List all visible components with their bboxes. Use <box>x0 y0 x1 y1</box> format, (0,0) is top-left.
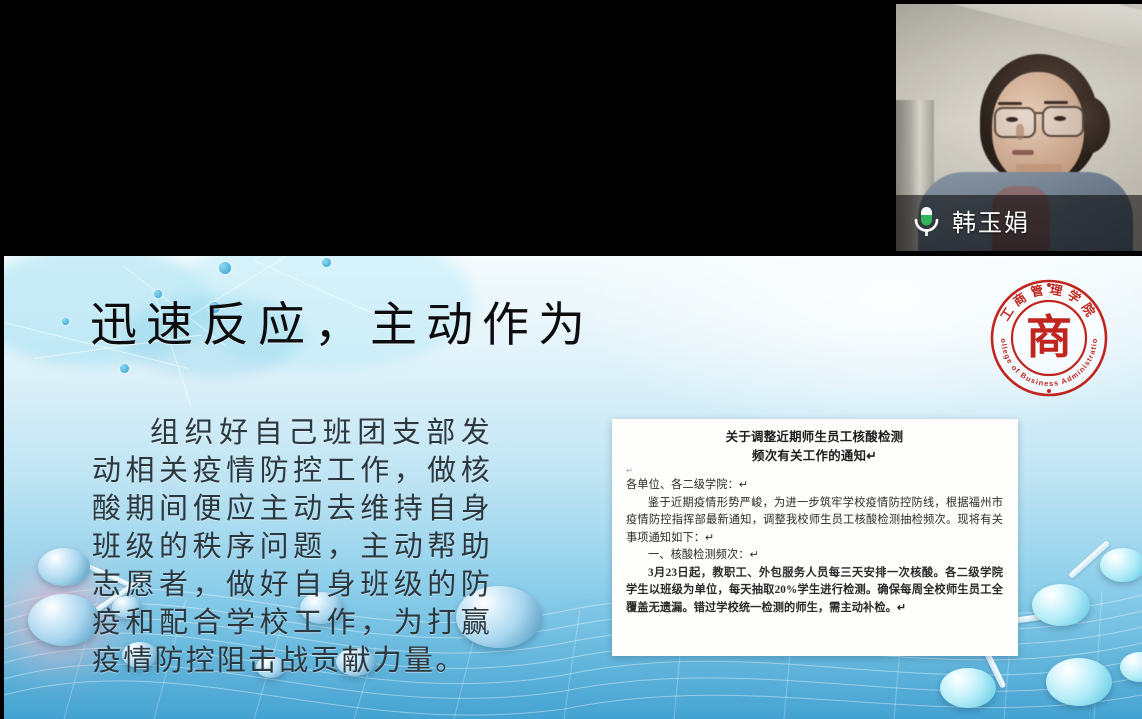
microphone-icon[interactable] <box>910 205 942 239</box>
svg-text:商: 商 <box>1026 312 1072 363</box>
participant-name-bar: 韩玉娟 <box>896 195 1142 251</box>
decor-node <box>120 364 129 373</box>
college-seal-icon: 商 工商管理学院 College of Business Administrat… <box>988 277 1110 399</box>
decor-sphere <box>1046 658 1112 706</box>
document-title-line-2: 频次有关工作的通知↵ <box>626 447 1003 466</box>
participant-video-tile[interactable]: 韩玉娟 <box>896 4 1142 251</box>
participant-name-label: 韩玉娟 <box>952 208 1030 238</box>
document-paragraph: 鉴于近期疫情形势严峻，为进一步筑牢学校疫情防控防线，根据福州市疫情防控指挥部最新… <box>626 495 1003 548</box>
notice-document-image: 关于调整近期师生员工核酸检测 频次有关工作的通知↵ ↵ 各单位、各二级学院：↵ … <box>612 419 1018 656</box>
document-blank-mark: ↵ <box>626 466 1003 477</box>
decor-sphere <box>38 548 90 586</box>
document-paragraph: 3月23日起，教职工、外包服务人员每三天安排一次核酸。各二级学院学生以班级为单位… <box>626 565 1003 618</box>
decor-sphere <box>940 668 996 708</box>
document-title-line-1: 关于调整近期师生员工核酸检测 <box>626 428 1003 447</box>
decor-node <box>62 318 69 325</box>
screen-root: 迅速反应，主动作为 组织好自己班团支部发动相关疫情防控工作，做核酸期间便应主动去… <box>0 0 1142 719</box>
decor-sphere <box>1100 548 1142 582</box>
document-paragraph: 各单位、各二级学院：↵ <box>626 477 1003 495</box>
slide-body-text: 组织好自己班团支部发动相关疫情防控工作，做核酸期间便应主动去维持自身班级的秩序问… <box>92 414 492 680</box>
decor-node <box>154 290 162 298</box>
document-paragraph: 一、核酸检测频次：↵ <box>626 547 1003 565</box>
decor-node <box>322 258 331 267</box>
decor-sphere <box>28 594 100 646</box>
decor-node <box>219 262 231 274</box>
slide-title: 迅速反应，主动作为 <box>90 303 594 350</box>
decor-sphere <box>1032 584 1090 626</box>
